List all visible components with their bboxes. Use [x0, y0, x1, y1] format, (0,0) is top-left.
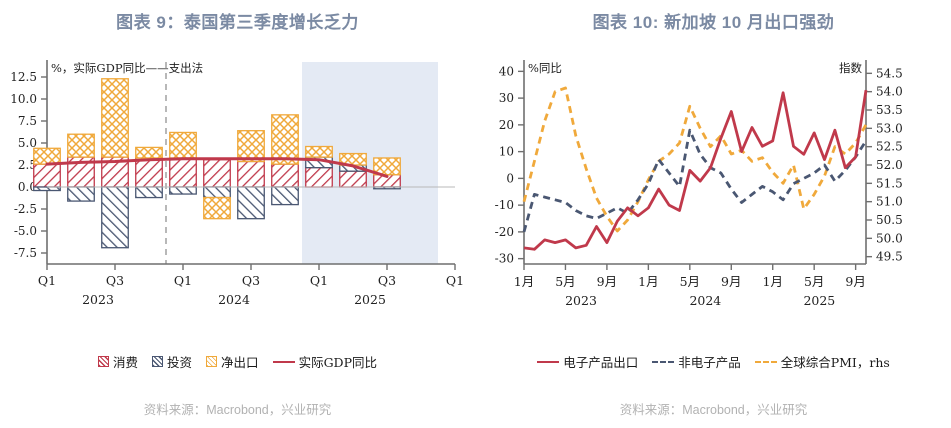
dash-orange-icon [755, 361, 777, 363]
svg-text:9月: 9月 [597, 274, 617, 289]
svg-text:1月: 1月 [514, 274, 534, 289]
figure-9-legend: 消费 投资 净出口 实际GDP同比 [0, 352, 475, 371]
svg-text:Q3: Q3 [106, 273, 124, 288]
svg-text:7.5: 7.5 [18, 114, 37, 128]
svg-text:Q1: Q1 [310, 273, 328, 288]
svg-text:50.0: 50.0 [876, 231, 903, 245]
svg-text:50.5: 50.5 [876, 213, 903, 227]
svg-text:9月: 9月 [721, 274, 741, 289]
figure-9-plot: 12.510.07.55.02.50.0-2.5-5.0-7.5%，实际GDP同… [0, 52, 475, 317]
line-red-icon [273, 361, 295, 363]
legend-item-net-exports: 净出口 [206, 352, 259, 371]
legend-item-electronics-exports: 电子产品出口 [537, 352, 638, 371]
svg-text:52.5: 52.5 [876, 140, 903, 154]
svg-text:2023: 2023 [82, 292, 114, 307]
legend-item-investment: 投资 [152, 352, 192, 371]
svg-text:Q1: Q1 [174, 273, 192, 288]
legend-label-real-gdp: 实际GDP同比 [299, 352, 377, 371]
svg-text:2024: 2024 [689, 293, 721, 308]
svg-text:51.0: 51.0 [876, 195, 903, 209]
svg-text:2025: 2025 [354, 292, 386, 307]
svg-text:2025: 2025 [803, 293, 835, 308]
legend-label-electronics-exports: 电子产品出口 [563, 352, 638, 371]
svg-text:30: 30 [499, 91, 514, 105]
svg-text:Q1: Q1 [38, 273, 56, 288]
svg-text:10: 10 [499, 145, 514, 159]
svg-text:40: 40 [499, 64, 514, 78]
figure-10-plot: 403020100-10-20-3054.554.053.553.052.552… [476, 52, 951, 317]
svg-text:-30: -30 [495, 252, 514, 266]
legend-label-consumption: 消费 [113, 352, 138, 371]
legend-item-consumption: 消费 [98, 352, 138, 371]
legend-label-global-pmi: 全球综合PMI，rhs [781, 352, 890, 371]
svg-text:5月: 5月 [555, 274, 575, 289]
svg-text:20: 20 [499, 118, 514, 132]
svg-text:53.0: 53.0 [876, 121, 903, 135]
line-red-icon [537, 361, 559, 363]
svg-text:51.5: 51.5 [876, 176, 903, 190]
legend-label-net-exports: 净出口 [221, 352, 259, 371]
svg-text:Q1: Q1 [446, 273, 464, 288]
svg-text:2023: 2023 [565, 293, 597, 308]
dash-navy-icon [652, 361, 674, 363]
svg-text:54.5: 54.5 [876, 66, 903, 80]
svg-text:-5.0: -5.0 [14, 224, 37, 238]
figure-9-source: 资料来源：Macrobond，兴业研究 [0, 399, 475, 418]
svg-text:5月: 5月 [680, 274, 700, 289]
figure-9-title: 图表 9：泰国第三季度增长乏力 [0, 8, 475, 33]
svg-text:9月: 9月 [845, 274, 865, 289]
svg-text:1月: 1月 [763, 274, 783, 289]
svg-text:Q3: Q3 [242, 273, 260, 288]
svg-text:0: 0 [506, 171, 514, 185]
svg-text:12.5: 12.5 [10, 70, 37, 84]
svg-text:5月: 5月 [804, 274, 824, 289]
legend-item-global-pmi: 全球综合PMI，rhs [755, 352, 890, 371]
svg-text:52.0: 52.0 [876, 158, 903, 172]
svg-text:53.5: 53.5 [876, 103, 903, 117]
svg-text:指数: 指数 [839, 61, 862, 75]
svg-text:%，实际GDP同比——支出法: %，实际GDP同比——支出法 [51, 61, 203, 75]
svg-text:54.0: 54.0 [876, 85, 903, 99]
legend-label-investment: 投资 [167, 352, 192, 371]
svg-text:2024: 2024 [218, 292, 250, 307]
figure-10-title: 图表 10: 新加坡 10 月出口强劲 [476, 8, 951, 33]
legend-item-real-gdp: 实际GDP同比 [273, 352, 377, 371]
square-navy-hatch-icon [152, 356, 163, 367]
svg-text:-2.5: -2.5 [14, 202, 37, 216]
svg-text:10.0: 10.0 [10, 92, 37, 106]
figure-10-legend: 电子产品出口 非电子产品 全球综合PMI，rhs [476, 352, 951, 371]
svg-text:-20: -20 [495, 225, 514, 239]
svg-text:Q3: Q3 [378, 273, 396, 288]
legend-label-non-electronics: 非电子产品 [678, 352, 741, 371]
square-orange-cross-icon [206, 356, 217, 367]
svg-text:-7.5: -7.5 [14, 246, 37, 260]
svg-text:1月: 1月 [638, 274, 658, 289]
figures-page: 图表 9：泰国第三季度增长乏力 12.510.07.55.02.50.0-2.5… [0, 0, 951, 428]
svg-text:%同比: %同比 [528, 61, 562, 75]
svg-text:-10: -10 [495, 198, 514, 212]
legend-item-non-electronics: 非电子产品 [652, 352, 741, 371]
figure-9-panel: 图表 9：泰国第三季度增长乏力 12.510.07.55.02.50.0-2.5… [0, 0, 475, 428]
figure-10-source: 资料来源：Macrobond，兴业研究 [476, 399, 951, 418]
figure-9-svg: 12.510.07.55.02.50.0-2.5-5.0-7.5%，实际GDP同… [0, 52, 475, 317]
square-red-hatch-icon [98, 356, 109, 367]
svg-text:49.5: 49.5 [876, 250, 903, 264]
figure-10-panel: 图表 10: 新加坡 10 月出口强劲 403020100-10-20-3054… [476, 0, 951, 428]
figure-10-svg: 403020100-10-20-3054.554.053.553.052.552… [476, 52, 951, 317]
